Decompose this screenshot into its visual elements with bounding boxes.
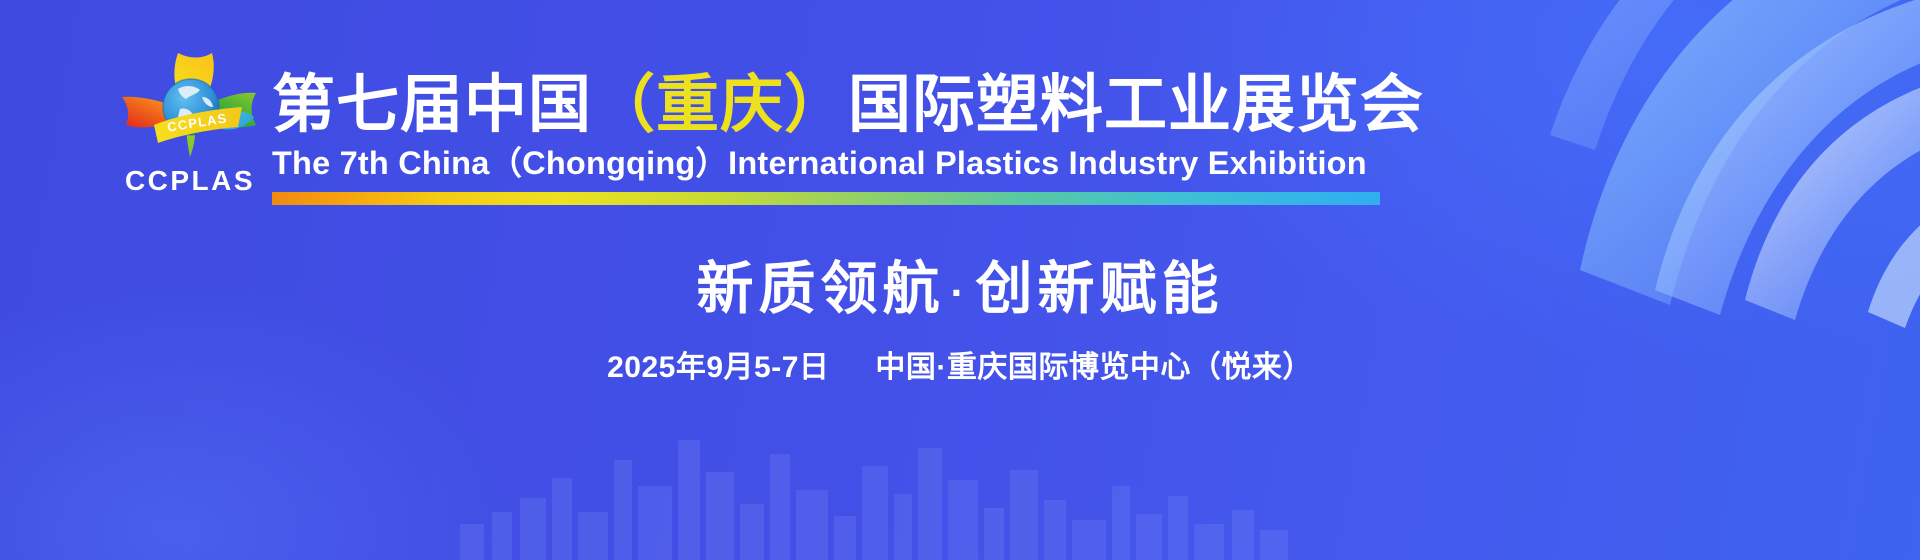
event-meta: 2025年9月5-7日中国·重庆国际博览中心（悦来） — [0, 350, 1920, 386]
slogan-right: 创新赋能 — [976, 257, 1224, 321]
title-chinese: 第七届中国（重庆）国际塑料工业展览会 — [272, 72, 1392, 139]
gradient-divider — [272, 192, 1380, 205]
slogan-left: 新质领航 — [697, 257, 945, 321]
title-chinese-part1: 第七届中国 — [272, 70, 592, 140]
title-chinese-part2: 国际塑料工业展览会 — [848, 70, 1424, 140]
logo-block: CCPLAS CCPLAS — [110, 45, 270, 200]
ccplas-leaf-globe-logo: CCPLAS — [110, 45, 270, 163]
event-date: 2025年9月5-7日 — [607, 351, 829, 384]
title-chinese-highlight: （重庆） — [592, 70, 848, 140]
slogan-separator: · — [945, 270, 976, 316]
headline-block: 第七届中国（重庆）国际塑料工业展览会 The 7th China（Chongqi… — [272, 72, 1392, 205]
title-english: The 7th China（Chongqing）International Pl… — [272, 146, 1392, 182]
logo-wordmark: CCPLAS — [110, 167, 270, 195]
exhibition-banner: CCPLAS CCPLAS 第七届中国（重庆）国际塑料工业展览会 The 7th… — [0, 0, 1920, 560]
event-venue: 中国·重庆国际博览中心（悦来） — [875, 351, 1313, 384]
slogan: 新质领航·创新赋能 — [0, 258, 1920, 321]
